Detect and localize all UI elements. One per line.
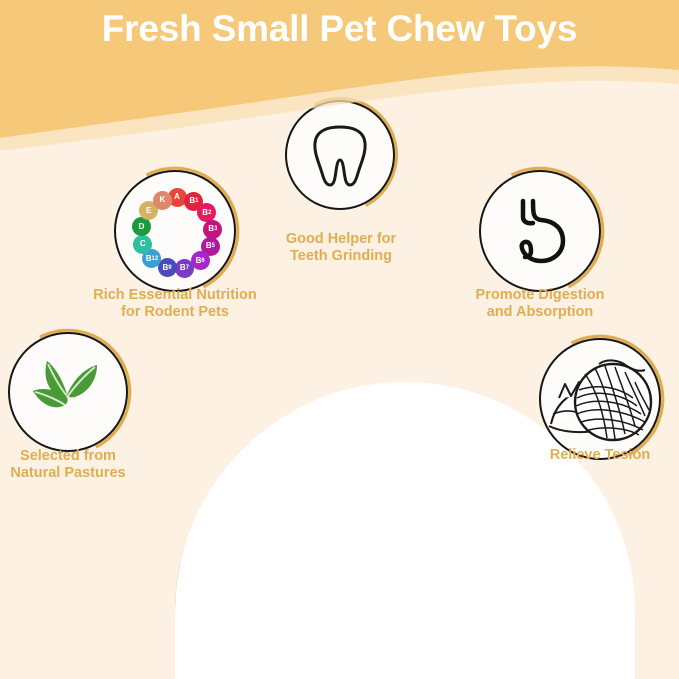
feature-leaves	[8, 332, 128, 452]
page-title: Fresh Small Pet Chew Toys	[0, 8, 679, 50]
feature-digestion	[479, 170, 601, 292]
caption-leaves: Selected from Natural Pastures	[0, 448, 183, 482]
vitamin-badge-d: D	[132, 217, 151, 236]
caption-teeth: Good Helper for Teeth Grinding	[226, 231, 456, 265]
caption-nutrition: Rich Essential Nutrition for Rodent Pets	[60, 287, 290, 321]
caption-yarn: Relieve Tesion	[485, 447, 679, 464]
vitamin-badge-c: C	[133, 235, 152, 254]
feature-nutrition: AB1B2B3B5B6B7B9B12CDEK	[114, 170, 236, 292]
stomach-icon	[479, 170, 601, 292]
vitamin-badge-b3: B3	[203, 220, 222, 239]
vitamin-badge-b7: B7	[175, 259, 194, 278]
leaves-icon	[8, 332, 128, 452]
feature-yarn	[539, 338, 661, 460]
vitamin-ring-icon: AB1B2B3B5B6B7B9B12CDEK	[114, 170, 236, 292]
infographic-poster: Fresh Small Pet Chew Toys AB1B2B3B5B6B7B…	[0, 0, 679, 679]
caption-digestion: Promote Digestion and Absorption	[425, 287, 655, 321]
cat-yarn-ball-icon	[539, 338, 661, 460]
vitamin-badge-k: K	[153, 191, 172, 210]
